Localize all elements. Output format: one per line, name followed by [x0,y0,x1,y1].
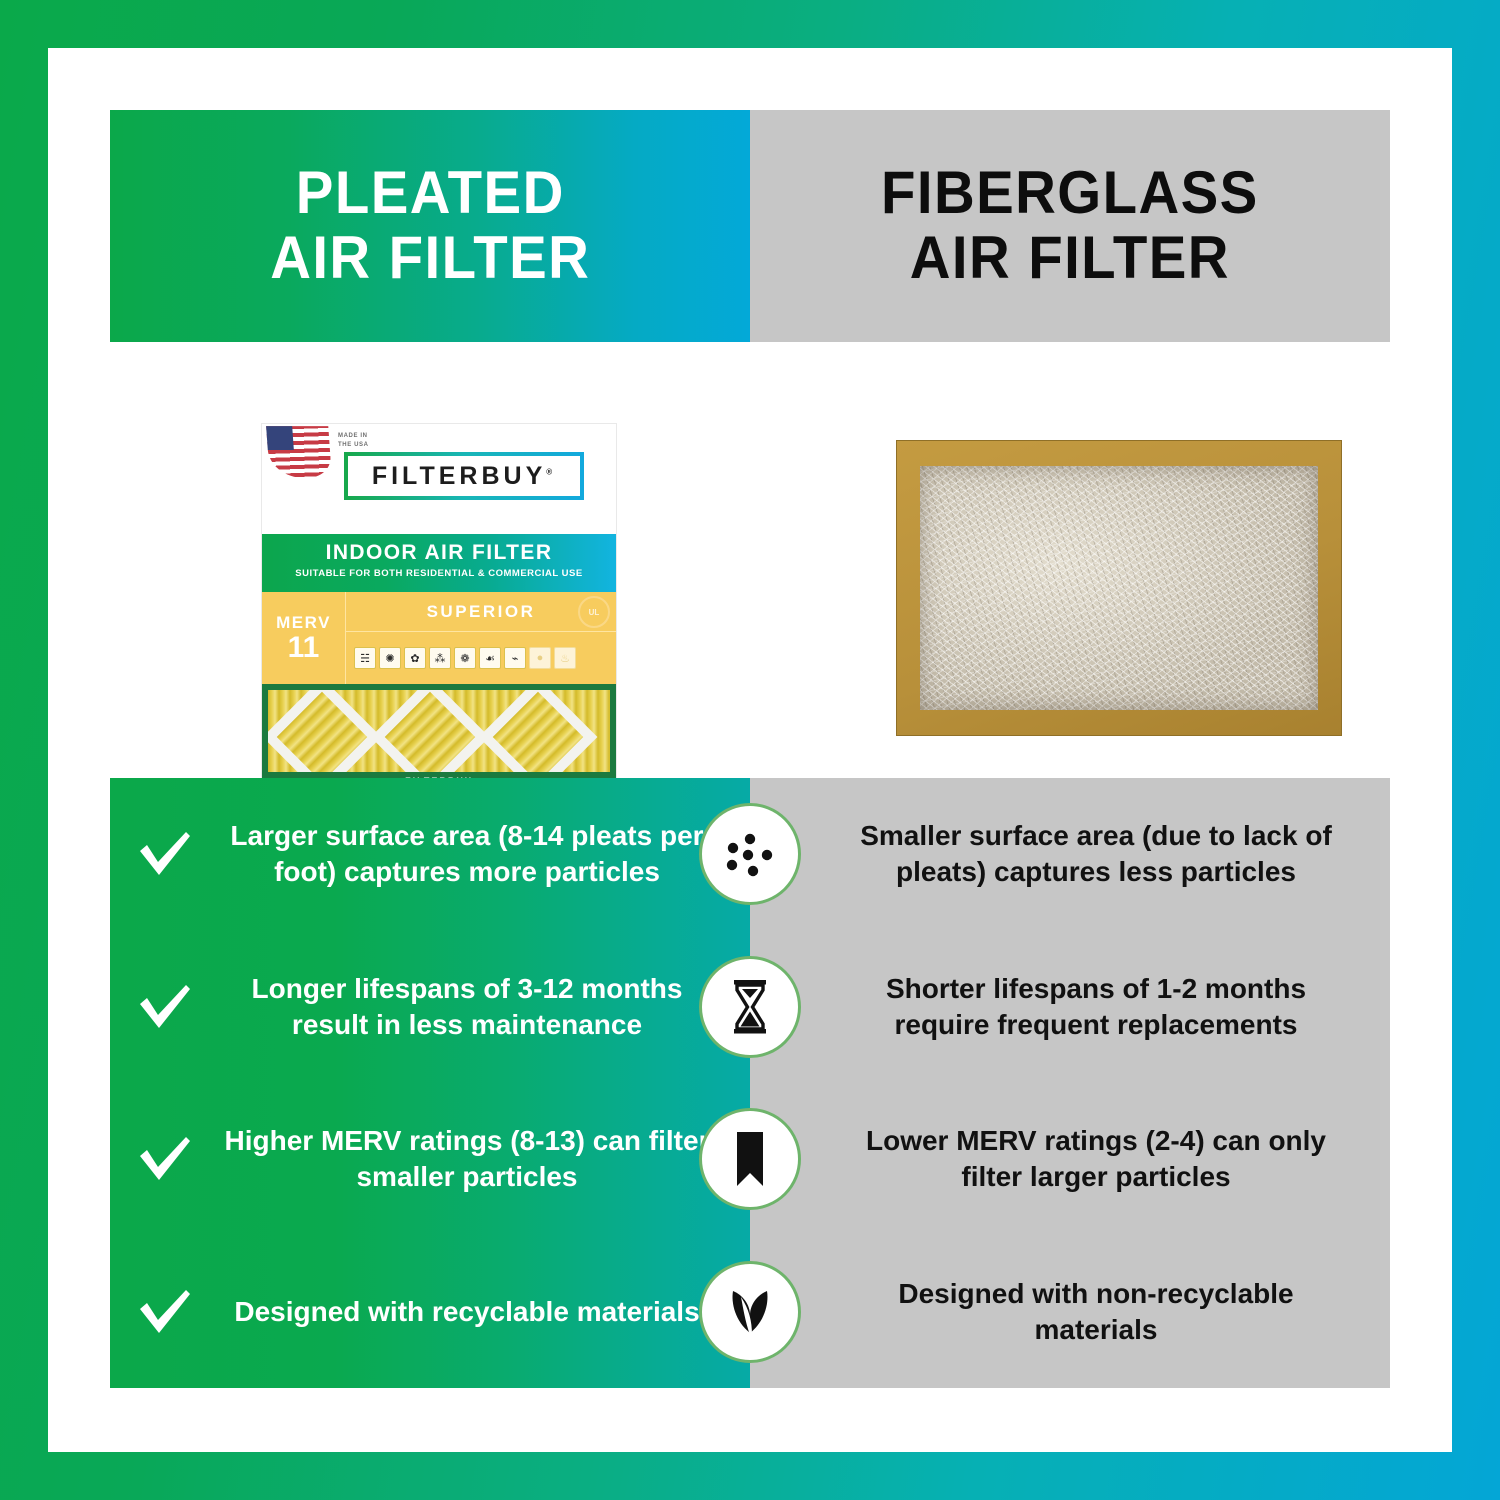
package-info-band: INDOOR AIR FILTER SUITABLE FOR BOTH RESI… [262,534,616,592]
check-column [110,1282,218,1342]
pleated-benefit-text: Larger surface area (8-14 pleats per foo… [218,818,750,890]
pleated-product-cell: MADE IN THE USA FILTERBUY® INDOOR AIR FI… [110,342,750,778]
pleated-benefit-text: Higher MERV ratings (8-13) can filter sm… [218,1123,750,1195]
package-band-subtitle: SUITABLE FOR BOTH RESIDENTIAL & COMMERCI… [262,568,616,579]
fiberglass-drawback-text: Lower MERV ratings (2-4) can only filter… [750,1123,1390,1195]
product-image-row: MADE IN THE USA FILTERBUY® INDOOR AIR FI… [110,342,1390,778]
merv-label: MERV [276,613,331,633]
support-diamond-inner [493,692,584,783]
pet-dander-icon: ☙ [479,647,501,669]
ul-certification-icon: UL [578,596,610,628]
comparison-row: Longer lifespans of 3-12 months result i… [110,931,1390,1084]
tier-row: SUPERIOR UL [346,592,616,632]
comparison-row: Designed with recyclable materials Desig… [110,1236,1390,1389]
fiberglass-filter-image [896,440,1342,736]
header-band: PLEATED AIR FILTER FIBERGLASS AIR FILTER [110,110,1390,342]
pleated-filter-package: MADE IN THE USA FILTERBUY® INDOOR AIR FI… [262,424,616,790]
infographic-card: PLEATED AIR FILTER FIBERGLASS AIR FILTER… [48,48,1452,1452]
mold-spores-icon: ⁂ [429,647,451,669]
header-fiberglass-line1: FIBERGLASS [881,161,1259,226]
smoke-icon: ⌁ [504,647,526,669]
package-band-title: INDOOR AIR FILTER [262,541,616,565]
brand-trademark: ® [546,467,556,476]
comparison-row: Larger surface area (8-14 pleats per foo… [110,778,1390,931]
header-pleated: PLEATED AIR FILTER [110,110,750,342]
comparison-rows: Larger surface area (8-14 pleats per foo… [110,778,1390,1388]
brand-word: FILTERBUY [372,462,546,490]
fiberglass-mesh [920,466,1318,710]
header-fiberglass-line2: AIR FILTER [881,226,1259,291]
fiberglass-drawback-text: Shorter lifespans of 1-2 months require … [750,971,1390,1043]
pollen-icon: ✿ [404,647,426,669]
merv-value: 11 [288,633,320,663]
hourglass-glyph [721,976,779,1038]
checkmark-icon [134,977,194,1037]
dust-mite-icon: ✺ [379,647,401,669]
pleated-benefit-text: Designed with recyclable materials [218,1294,750,1330]
comparison-section: Larger surface area (8-14 pleats per foo… [110,778,1390,1388]
made-in-line1: MADE IN [338,432,369,441]
check-column [110,824,218,884]
dust-icon: ☵ [354,647,376,669]
package-top-section: MADE IN THE USA FILTERBUY® [262,424,616,534]
checkmark-icon [134,824,194,884]
leaf-eco-glyph [719,1281,781,1343]
particles-icon [699,803,801,905]
check-column [110,977,218,1037]
header-pleated-line2: AIR FILTER [270,226,590,291]
feature-icon-row: ☵ ✺ ✿ ⁂ ❁ ☙ ⌁ ● ♨ [346,632,616,684]
usa-flag-icon [266,426,332,478]
pleat-media [268,690,610,784]
comparison-row: Higher MERV ratings (8-13) can filter sm… [110,1083,1390,1236]
brand-logo-box: FILTERBUY® [344,452,584,500]
tier-label: SUPERIOR [427,602,536,622]
hourglass-icon [699,956,801,1058]
merv-rating-block: MERV 11 [262,592,346,684]
bookmark-glyph [727,1128,773,1190]
package-merv-section: MERV 11 SUPERIOR UL ☵ ✺ ✿ ⁂ ❁ [262,592,616,684]
header-pleated-line1: PLEATED [270,161,590,226]
checkmark-icon [134,1129,194,1189]
check-column [110,1129,218,1189]
checkmark-icon [134,1282,194,1342]
package-pleat-window: FILTERBUY [262,684,616,790]
pleated-benefit-text: Longer lifespans of 3-12 months result i… [218,971,750,1043]
merv-right-block: SUPERIOR UL ☵ ✺ ✿ ⁂ ❁ ☙ ⌁ ● ♨ [346,592,616,684]
made-in-usa-label: MADE IN THE USA [338,432,369,450]
header-fiberglass-title: FIBERGLASS AIR FILTER [881,161,1259,291]
support-diamond-inner [385,692,476,783]
brand-name: FILTERBUY® [372,462,556,491]
support-diamond-inner [277,692,368,783]
virus-icon: ● [529,647,551,669]
fiberglass-drawback-text: Designed with non-recyclable materials [750,1276,1390,1348]
made-in-line2: THE USA [338,441,369,450]
header-pleated-title: PLEATED AIR FILTER [270,161,590,291]
bookmark-icon [699,1108,801,1210]
fiberglass-drawback-text: Smaller surface area (due to lack of ple… [750,818,1390,890]
bacteria-icon: ❁ [454,647,476,669]
odor-icon: ♨ [554,647,576,669]
leaf-eco-icon [699,1261,801,1363]
particles-glyph [719,823,781,885]
header-fiberglass: FIBERGLASS AIR FILTER [750,110,1390,342]
fiberglass-product-cell [750,342,1390,778]
